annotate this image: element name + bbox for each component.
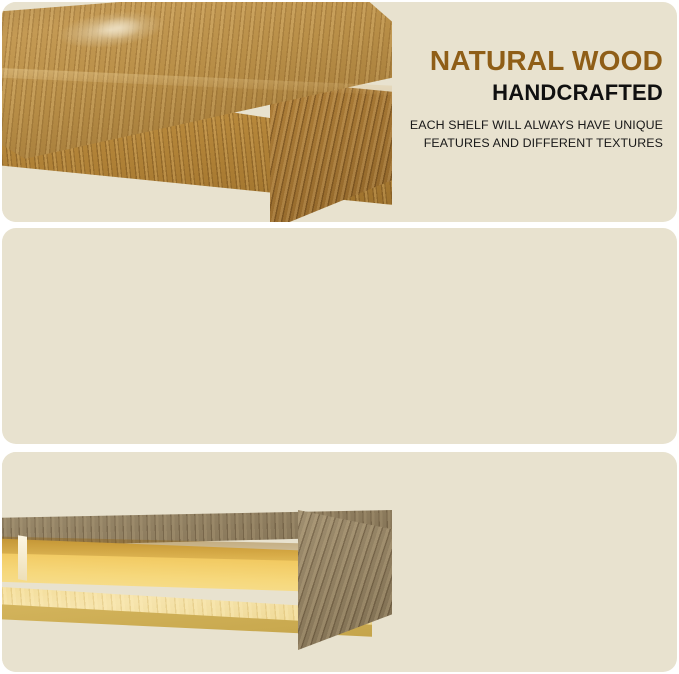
natural-wood-body-text: EACH SHELF WILL ALWAYS HAVE UNIQUE FEATU… [363,117,663,152]
thick-wood-plank-photo [2,2,392,222]
hollow-shelf-cross-section-photo [2,452,392,672]
shelf-end-grain-face [298,510,392,650]
shelf-internal-divider-left [18,535,27,580]
handcrafted-subheading: HANDCRAFTED [363,81,663,105]
product-feature-collage: NATURAL WOOD HANDCRAFTED EACH SHELF WILL… [0,0,679,674]
multi-point-support-panel: MULTI-POINT SUPPORT DESIGN EVENLY DISTRI… [2,228,677,444]
natural-wood-text-block: NATURAL WOOD HANDCRAFTED EACH SHELF WILL… [363,46,663,152]
stable-hidden-support-panel: STABLE HIDDEN SUPPORT SEGMENTED INTERNAL… [2,452,677,672]
natural-wood-heading: NATURAL WOOD [363,46,663,75]
natural-wood-panel: NATURAL WOOD HANDCRAFTED EACH SHELF WILL… [2,2,677,222]
